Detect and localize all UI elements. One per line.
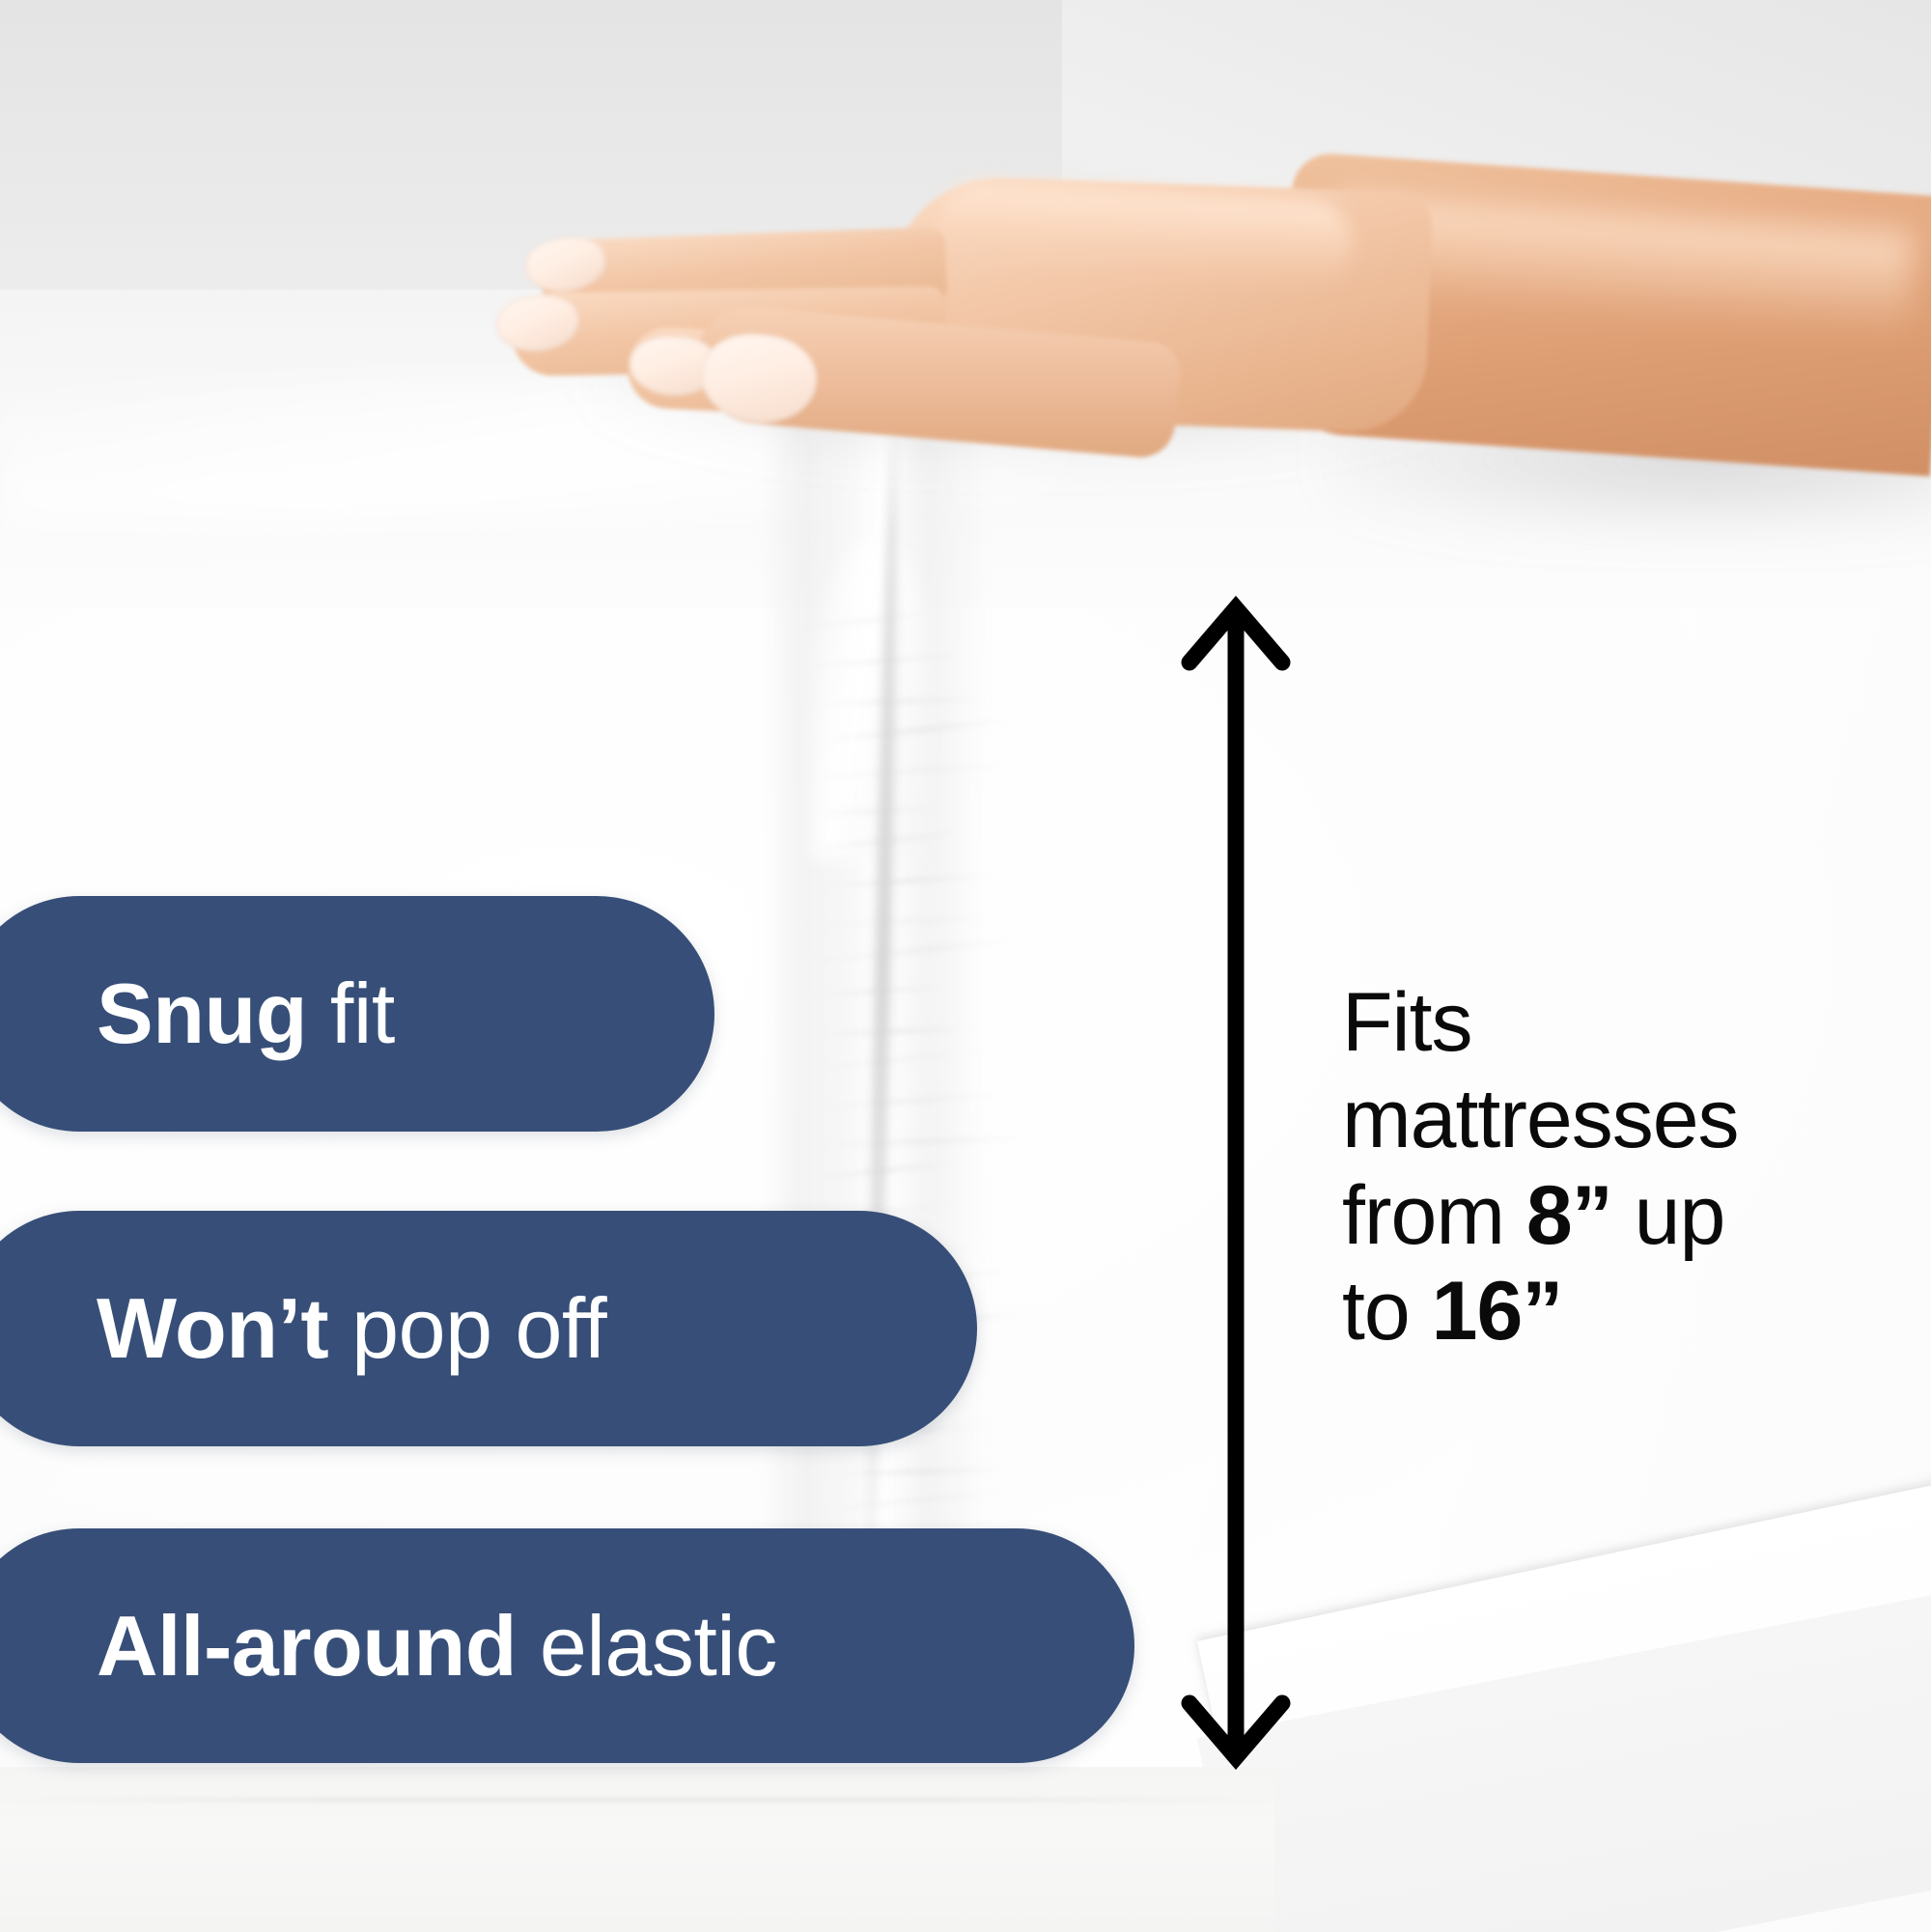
sheet-ripple xyxy=(812,1466,1021,1478)
mattress-bottom-band xyxy=(0,1767,1274,1932)
caption-line: to 16” xyxy=(1342,1264,1796,1360)
sheet-ripple xyxy=(812,872,999,890)
sheet-ripple xyxy=(802,1091,1011,1110)
feature-pill-label-2: All-around elastic xyxy=(97,1604,777,1689)
sheet-ripple xyxy=(807,696,994,708)
feature-pill-label-0: Snug fit xyxy=(97,971,395,1056)
feature-pill-label-1: Won’t pop off xyxy=(97,1286,606,1371)
double-headed-vertical-arrow-icon xyxy=(1168,579,1303,1786)
sheet-ripple xyxy=(798,1049,984,1073)
sheet-ripple xyxy=(807,829,973,852)
caption-line: mattresses xyxy=(1342,1072,1796,1168)
sheet-ripple xyxy=(802,653,968,669)
caption-line: from 8” up xyxy=(1342,1168,1796,1265)
hand-on-mattress xyxy=(483,145,1931,589)
product-feature-image: Snug fit Won’t pop off All-around elasti… xyxy=(0,0,1931,1932)
measurement-arrow xyxy=(1168,579,1303,1786)
sheet-ripple xyxy=(807,1135,1037,1148)
feature-pill-snug-fit: Snug fit xyxy=(0,896,714,1132)
mattress-bottom-seam xyxy=(0,1798,1274,1802)
caption-line: Fits xyxy=(1342,975,1796,1072)
feature-pill-wont-pop-off: Won’t pop off xyxy=(0,1211,977,1446)
sheet-ripple xyxy=(802,937,1031,966)
feature-pill-all-around-elastic: All-around elastic xyxy=(0,1528,1134,1763)
sheet-ripple xyxy=(798,915,1006,928)
sheet-ripple xyxy=(812,1161,957,1181)
sheet-ripple xyxy=(802,806,947,816)
limb-softening-layer xyxy=(483,145,1931,589)
sheet-ripple xyxy=(812,717,1020,744)
sheet-ripple xyxy=(807,984,952,998)
mattress-depth-caption: Fitsmattressesfrom 8” upto 16” xyxy=(1342,975,1796,1360)
sheet-ripple xyxy=(812,1026,978,1037)
sheet-ripple xyxy=(798,1487,1026,1516)
sheet-ripple xyxy=(798,761,1027,782)
